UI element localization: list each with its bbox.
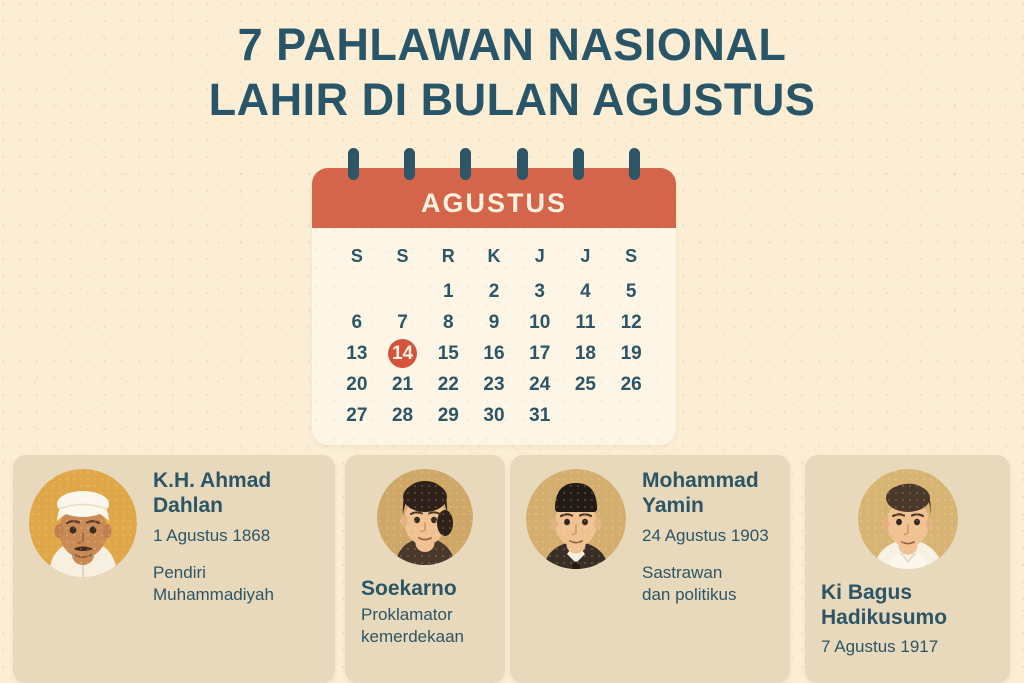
calendar-day-number: 17	[525, 339, 554, 368]
calendar-dow-4: K	[471, 240, 517, 276]
calendar-week-row: 20212223242526	[334, 369, 654, 400]
calendar-day-highlighted[interactable]: 14	[380, 338, 426, 369]
calendar-day[interactable]: 15	[425, 338, 471, 369]
calendar-day[interactable]: 29	[425, 400, 471, 431]
calendar-day-empty	[380, 276, 426, 307]
avatar-ahmad-dahlan	[29, 469, 137, 577]
calendar-day[interactable]: 21	[380, 369, 426, 400]
calendar-day-number: 9	[479, 308, 508, 337]
calendar-ring-5	[573, 148, 584, 180]
calendar-month-label: AGUSTUS	[421, 188, 567, 219]
card-text-soekarno: Soekarno Proklamator kemerdekaan	[361, 565, 464, 648]
calendar-day-number	[571, 400, 600, 429]
calendar-day-number: 4	[571, 277, 600, 306]
calendar-day-number: 7	[388, 308, 417, 337]
calendar-day[interactable]: 12	[608, 307, 654, 338]
calendar-day[interactable]: 22	[425, 369, 471, 400]
calendar-ring-1	[348, 148, 359, 180]
card-text-ahmad-dahlan: K.H. Ahmad Dahlan 1 Agustus 1868 Pendiri…	[153, 469, 274, 606]
calendar-day[interactable]: 16	[471, 338, 517, 369]
calendar-day-number: 16	[479, 339, 508, 368]
person-name: Soekarno	[361, 577, 464, 602]
calendar-day-number: 6	[342, 308, 371, 337]
calendar-day[interactable]: 4	[563, 276, 609, 307]
calendar-day-empty	[563, 400, 609, 431]
portrait-illustration	[858, 469, 958, 569]
calendar-ring-4	[517, 148, 528, 180]
avatar-soekarno	[377, 469, 473, 565]
calendar-day[interactable]: 30	[471, 400, 517, 431]
avatar-ki-bagus-hadikusumo	[858, 469, 958, 569]
calendar-day[interactable]: 18	[563, 338, 609, 369]
calendar-day-number: 14	[388, 339, 417, 368]
calendar-day-number: 25	[571, 370, 600, 399]
calendar-day-number: 19	[617, 339, 646, 368]
calendar-day-number: 22	[434, 370, 463, 399]
calendar-day[interactable]: 19	[608, 338, 654, 369]
hero-card-soekarno[interactable]: Soekarno Proklamator kemerdekaan	[345, 455, 505, 683]
person-role: Sastrawan dan politikus	[642, 562, 769, 606]
calendar-day-number: 10	[525, 308, 554, 337]
title-line-1: 7 PAHLAWAN NASIONAL	[0, 18, 1024, 73]
calendar-day-number: 26	[617, 370, 646, 399]
calendar-day[interactable]: 31	[517, 400, 563, 431]
calendar-day[interactable]: 25	[563, 369, 609, 400]
calendar-day[interactable]: 13	[334, 338, 380, 369]
calendar-dow-2: S	[380, 240, 426, 276]
calendar-day-header-row: SSRKJJS	[334, 240, 654, 276]
calendar-day-number: 11	[571, 308, 600, 337]
calendar-day[interactable]: 17	[517, 338, 563, 369]
calendar-day[interactable]: 23	[471, 369, 517, 400]
calendar-dow-3: R	[425, 240, 471, 276]
calendar-day[interactable]: 11	[563, 307, 609, 338]
hero-card-ahmad-dahlan[interactable]: K.H. Ahmad Dahlan 1 Agustus 1868 Pendiri…	[13, 455, 335, 683]
hero-card-ki-bagus-hadikusumo[interactable]: Ki Bagus Hadikusumo 7 Agustus 1917	[805, 455, 1010, 683]
infographic-page: 7 PAHLAWAN NASIONAL LAHIR DI BULAN AGUST…	[0, 0, 1024, 683]
calendar-day-number: 29	[434, 401, 463, 430]
calendar-day-number: 1	[434, 277, 463, 306]
person-role: Proklamator kemerdekaan	[361, 604, 464, 648]
calendar-grid: SSRKJJS 12345678910111213141516171819202…	[312, 228, 676, 431]
calendar-day[interactable]: 28	[380, 400, 426, 431]
calendar-day[interactable]: 9	[471, 307, 517, 338]
title-line-2: LAHIR DI BULAN AGUSTUS	[0, 73, 1024, 128]
calendar-day-number: 3	[525, 277, 554, 306]
portrait-illustration	[29, 469, 137, 577]
calendar-week-row: 13141516171819	[334, 338, 654, 369]
calendar-day-number: 18	[571, 339, 600, 368]
calendar-day-number: 13	[342, 339, 371, 368]
calendar-day-number: 2	[479, 277, 508, 306]
calendar-day[interactable]: 10	[517, 307, 563, 338]
person-birthdate: 24 Agustus 1903	[642, 525, 769, 546]
calendar-day[interactable]: 6	[334, 307, 380, 338]
person-name: Ki Bagus Hadikusumo	[821, 581, 947, 631]
calendar-spiral-binding	[312, 148, 676, 182]
calendar-day[interactable]: 1	[425, 276, 471, 307]
calendar-day-number: 8	[434, 308, 463, 337]
calendar-day-empty	[608, 400, 654, 431]
calendar-ring-3	[460, 148, 471, 180]
card-text-ki-bagus-hadikusumo: Ki Bagus Hadikusumo 7 Agustus 1917	[821, 569, 947, 657]
calendar-dow-7: S	[608, 240, 654, 276]
calendar-day[interactable]: 5	[608, 276, 654, 307]
avatar-mohammad-yamin	[526, 469, 626, 569]
calendar-day[interactable]: 3	[517, 276, 563, 307]
calendar-day[interactable]: 2	[471, 276, 517, 307]
person-name: K.H. Ahmad Dahlan	[153, 469, 274, 519]
page-title: 7 PAHLAWAN NASIONAL LAHIR DI BULAN AGUST…	[0, 18, 1024, 128]
portrait-illustration	[377, 469, 473, 565]
calendar-day-number	[617, 400, 646, 429]
calendar-day[interactable]: 24	[517, 369, 563, 400]
calendar-day[interactable]: 7	[380, 307, 426, 338]
calendar-body: AGUSTUS SSRKJJS 123456789101112131415161…	[312, 168, 676, 445]
calendar-day-number	[342, 276, 371, 305]
person-role: Pendiri Muhammadiyah	[153, 562, 274, 606]
calendar-day-number: 20	[342, 370, 371, 399]
person-birthdate: 7 Agustus 1917	[821, 636, 947, 657]
calendar-day-number: 30	[479, 401, 508, 430]
calendar-widget: AGUSTUS SSRKJJS 123456789101112131415161…	[312, 148, 676, 445]
calendar-week-row: 6789101112	[334, 307, 654, 338]
calendar-day-number: 23	[479, 370, 508, 399]
calendar-day-number: 31	[525, 401, 554, 430]
calendar-day-number: 24	[525, 370, 554, 399]
calendar-dow-6: J	[563, 240, 609, 276]
calendar-dow-1: S	[334, 240, 380, 276]
calendar-day[interactable]: 26	[608, 369, 654, 400]
calendar-day-number: 5	[617, 277, 646, 306]
calendar-day[interactable]: 8	[425, 307, 471, 338]
calendar-day-number: 28	[388, 401, 417, 430]
calendar-day-number: 21	[388, 370, 417, 399]
portrait-illustration	[526, 469, 626, 569]
calendar-day-number: 27	[342, 401, 371, 430]
person-name: Mohammad Yamin	[642, 469, 769, 519]
person-birthdate: 1 Agustus 1868	[153, 525, 274, 546]
calendar-day[interactable]: 20	[334, 369, 380, 400]
calendar-day[interactable]: 27	[334, 400, 380, 431]
calendar-day-empty	[334, 276, 380, 307]
calendar-dow-5: J	[517, 240, 563, 276]
hero-card-mohammad-yamin[interactable]: Mohammad Yamin 24 Agustus 1903 Sastrawan…	[510, 455, 790, 683]
calendar-ring-6	[629, 148, 640, 180]
calendar-day-number	[388, 276, 417, 305]
card-text-mohammad-yamin: Mohammad Yamin 24 Agustus 1903 Sastrawan…	[642, 469, 769, 606]
calendar-day-number: 15	[434, 339, 463, 368]
calendar-week-row: 2728293031	[334, 400, 654, 431]
calendar-week-row: 12345	[334, 276, 654, 307]
calendar-day-number: 12	[617, 308, 646, 337]
calendar-ring-2	[404, 148, 415, 180]
